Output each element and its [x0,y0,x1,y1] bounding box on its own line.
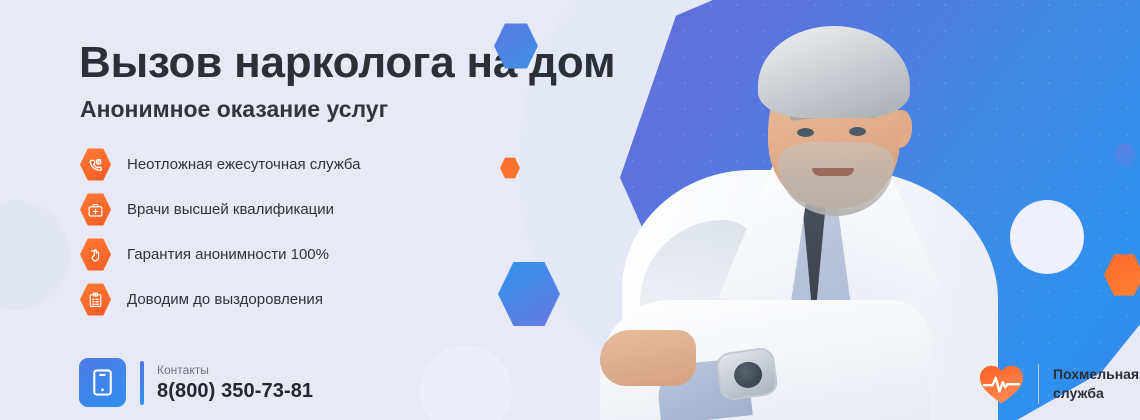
clipboard-checklist-icon [80,283,111,317]
contacts-block[interactable]: Контакты 8(800) 350-73-81 [79,358,313,407]
feature-label: Неотложная ежесуточная служба [127,156,360,173]
page-subtitle: Анонимное оказание услуг [80,96,388,123]
contacts-phone[interactable]: 8(800) 350-73-81 [157,380,313,403]
doctor-eye-left [797,128,814,137]
decor-hexagon-title [494,22,538,70]
feature-item: Гарантия анонимности 100% [80,232,500,277]
logo-divider [1038,364,1039,404]
brand-logo[interactable]: Похмельная служба [978,362,1139,405]
feature-item: Врачи высшей квалификации [80,187,500,232]
secrecy-hand-icon [80,238,111,272]
doctor-eye-right [849,127,866,136]
decor-circle-left [0,200,70,310]
decor-circle-white [1010,200,1084,274]
doctor-hair [758,26,910,118]
feature-item: Доводим до выздоровления [80,277,500,322]
feature-label: Гарантия анонимности 100% [127,246,329,263]
medical-kit-icon [80,193,111,227]
heart-pulse-icon [978,362,1025,405]
doctor-photo [600,0,1020,420]
doctor-hand [600,330,696,386]
svg-text:24: 24 [97,159,101,163]
decor-hexagon-blue-right [1114,143,1136,167]
contacts-divider [140,361,144,405]
contacts-label: Контакты [157,363,313,377]
decor-hexagon-orange-right [1104,253,1140,297]
phone-24h-icon: 24 [80,148,111,182]
decor-hexagon-blue-medium [498,260,560,328]
logo-text: Похмельная служба [1053,365,1139,403]
promo-banner: Вызов нарколога на дом Анонимное оказани… [0,0,1140,420]
feature-label: Доводим до выздоровления [127,291,323,308]
feature-list: 24 Неотложная ежесуточная служба Врачи в… [80,142,500,322]
feature-item: 24 Неотложная ежесуточная служба [80,142,500,187]
logo-text-line1: Похмельная [1053,365,1139,384]
decor-hexagon-orange-small [500,157,520,179]
doctor-wristwatch [715,346,779,402]
doctor-mouth [812,168,854,176]
feature-label: Врачи высшей квалификации [127,201,334,218]
logo-text-line2: служба [1053,384,1139,403]
decor-circle-faint [420,345,512,420]
mobile-phone-icon [79,358,126,407]
contacts-text: Контакты 8(800) 350-73-81 [157,363,313,403]
